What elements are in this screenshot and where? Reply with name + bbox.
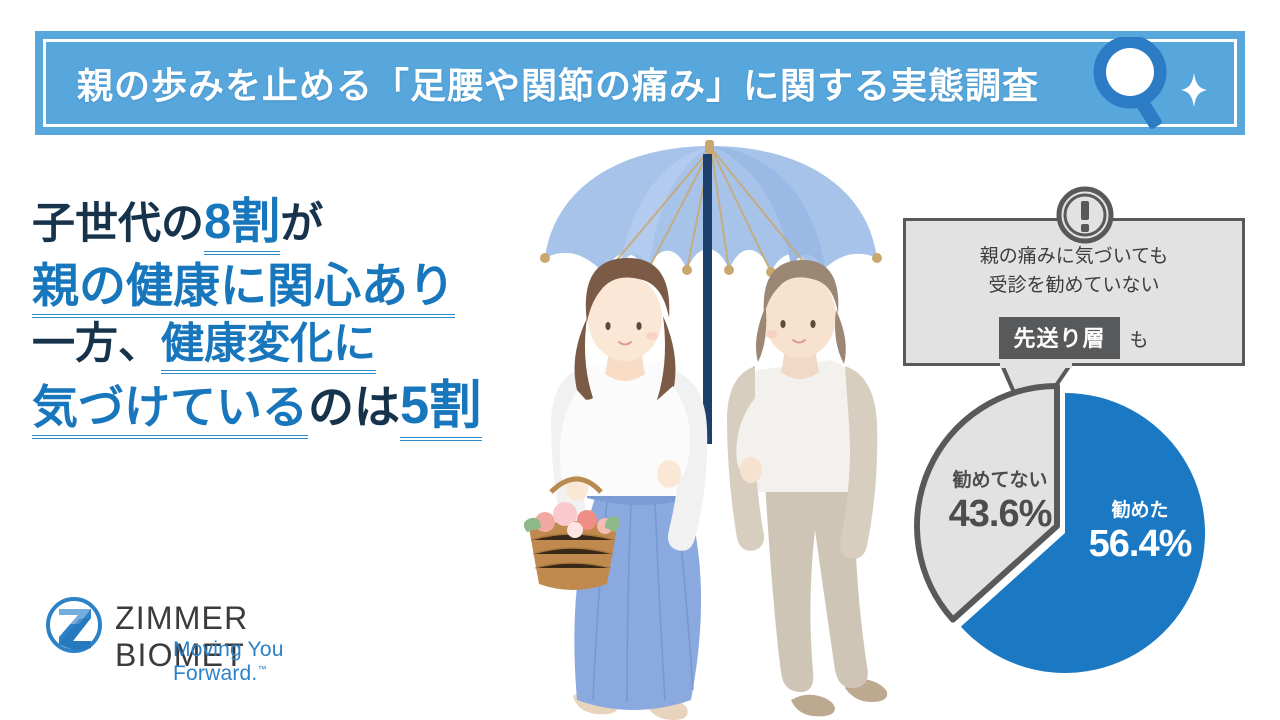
- headline-line-2: 親の健康に関心あり: [32, 256, 572, 315]
- logo-tagline: Moving You Forward.™: [173, 638, 380, 686]
- daughter-figure: [524, 258, 707, 720]
- headline-line4-highlight-a: 気づけている: [32, 381, 308, 439]
- headline-line3-pre: 一方、: [32, 320, 161, 368]
- infographic-canvas: 親の歩みを止める「足腰や関節の痛み」に関する実態調査 子世代の8割が 親の健康に…: [0, 0, 1280, 720]
- headline-line4-mid: のは: [308, 381, 400, 433]
- headline-line2-highlight: 親の健康に関心あり: [32, 259, 455, 318]
- callout-badge-suffix: も: [1130, 325, 1149, 352]
- page-title: 親の歩みを止める「足腰や関節の痛み」に関する実態調査: [77, 57, 1039, 109]
- headline-line-1: 子世代の8割が: [32, 192, 572, 254]
- two-women-with-umbrella-illustration: [515, 140, 935, 720]
- logo-trademark: ™: [257, 664, 266, 674]
- headline-line-3: 一方、健康変化に: [32, 317, 572, 371]
- pie-chart: [905, 378, 1215, 678]
- search-icon: [1083, 37, 1187, 129]
- logo-tagline-text: Moving You Forward.: [173, 638, 284, 685]
- headline-line1-pre: 子世代の: [32, 200, 204, 248]
- sparkle-icon: [1181, 73, 1207, 107]
- status-badge: 先送り層: [999, 317, 1119, 359]
- mother-figure: [727, 260, 887, 716]
- callout-text: 親の痛みに気づいても 受診を勧めていない: [906, 243, 1242, 300]
- header-banner: 親の歩みを止める「足腰や関節の痛み」に関する実態調査: [35, 31, 1245, 135]
- callout-badge-row: 先送り層 も: [906, 317, 1242, 359]
- callout-line-1: 親の痛みに気づいても: [906, 243, 1242, 272]
- headline-line3-highlight: 健康変化に: [161, 320, 376, 374]
- headline-line1-highlight: 8割: [204, 195, 280, 255]
- zimmer-z-icon: [45, 596, 103, 654]
- zimmer-biomet-logo: ZIMMER BIOMET Moving You Forward.™: [45, 596, 380, 672]
- headline-line1-post: が: [280, 200, 323, 248]
- headline-line-4: 気づけているのは5割: [32, 373, 572, 439]
- exclamation-icon: [1053, 183, 1117, 247]
- headline-line4-highlight-b: 5割: [400, 377, 482, 441]
- headline-block: 子世代の8割が 親の健康に関心あり 一方、健康変化に 気づけているのは5割: [32, 192, 572, 441]
- callout-line-2: 受診を勧めていない: [906, 272, 1242, 301]
